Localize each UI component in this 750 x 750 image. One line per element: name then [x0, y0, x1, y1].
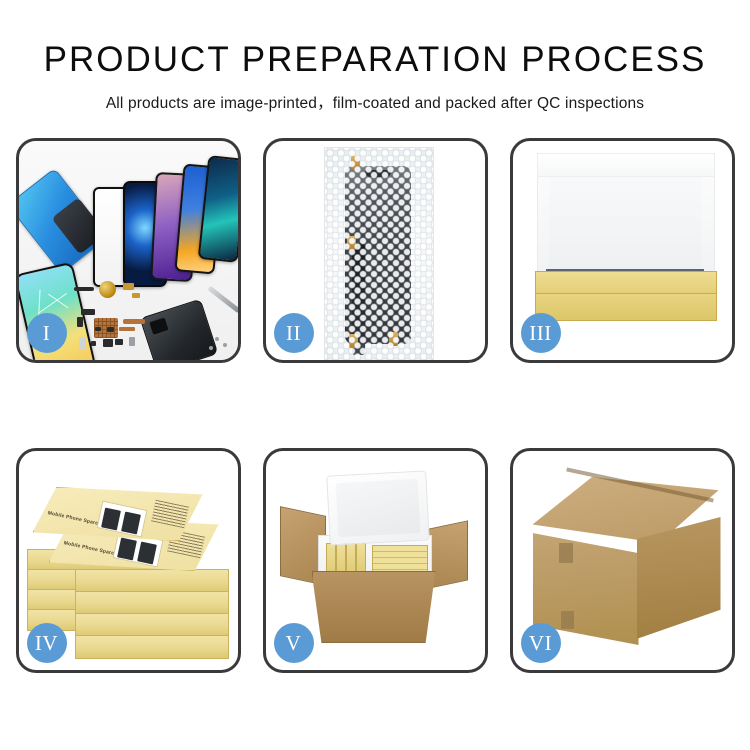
carton-body-icon [312, 571, 436, 643]
process-step-5[interactable]: V [263, 448, 488, 673]
step-badge-5: V [274, 623, 314, 663]
process-step-1[interactable]: I [16, 138, 241, 363]
bubble-bag-icon [324, 147, 434, 360]
page-title: PRODUCT PREPARATION PROCESS [0, 42, 750, 77]
step-badge-2: II [274, 313, 314, 353]
step-badge-3: III [521, 313, 561, 353]
process-step-grid: I II [0, 138, 750, 673]
step-badge-6: VI [521, 623, 561, 663]
page-header: PRODUCT PREPARATION PROCESS All products… [0, 0, 750, 113]
process-step-3[interactable]: III [510, 138, 735, 363]
foam-lid-icon [326, 470, 430, 545]
product-process-page: PRODUCT PREPARATION PROCESS All products… [0, 0, 750, 750]
process-step-4[interactable]: Mobile Phone Spare Parts Mobile Phone Sp… [16, 448, 241, 673]
page-subtitle: All products are image-printed，film-coat… [0, 91, 750, 113]
step-badge-4: IV [27, 623, 67, 663]
speaker-part-icon [99, 281, 116, 298]
step-badge-1: I [27, 313, 67, 353]
process-step-6[interactable]: VI [510, 448, 735, 673]
process-step-2[interactable]: II [263, 138, 488, 363]
